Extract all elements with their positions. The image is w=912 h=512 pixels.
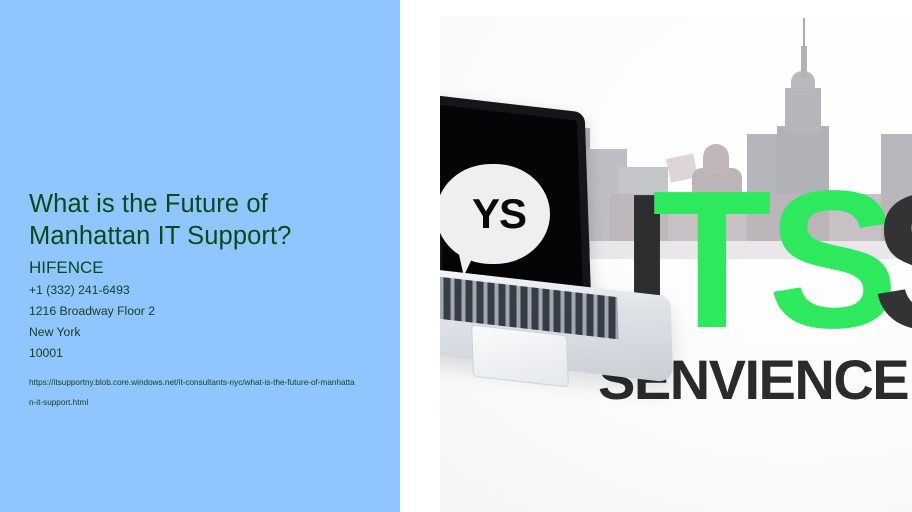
empire-state-building-antenna xyxy=(803,18,805,48)
page-title: What is the Future of Manhattan IT Suppo… xyxy=(29,188,379,252)
promo-card: What is the Future of Manhattan IT Suppo… xyxy=(0,0,912,512)
contact-city: New York xyxy=(29,322,379,343)
speech-bubble-text: YS xyxy=(472,190,526,238)
info-panel: What is the Future of Manhattan IT Suppo… xyxy=(0,0,400,512)
contact-street: 1216 Broadway Floor 2 xyxy=(29,301,379,322)
laptop-trackpad xyxy=(471,324,569,387)
empire-state-building-mast xyxy=(801,46,807,78)
contact-phone[interactable]: +1 (332) 241-6493 xyxy=(29,280,379,301)
laptop: YS xyxy=(440,104,692,434)
promo-image: I TS S SENVIENCE YS xyxy=(440,16,912,512)
company-name: HIFENCE xyxy=(29,256,379,279)
info-block: What is the Future of Manhattan IT Suppo… xyxy=(29,188,379,413)
contact-zip: 10001 xyxy=(29,343,379,364)
source-url-link[interactable]: https://itsupportny.blob.core.windows.ne… xyxy=(29,373,359,413)
speech-bubble: YS xyxy=(440,164,550,264)
wordmark-letter-s: S xyxy=(872,164,912,360)
